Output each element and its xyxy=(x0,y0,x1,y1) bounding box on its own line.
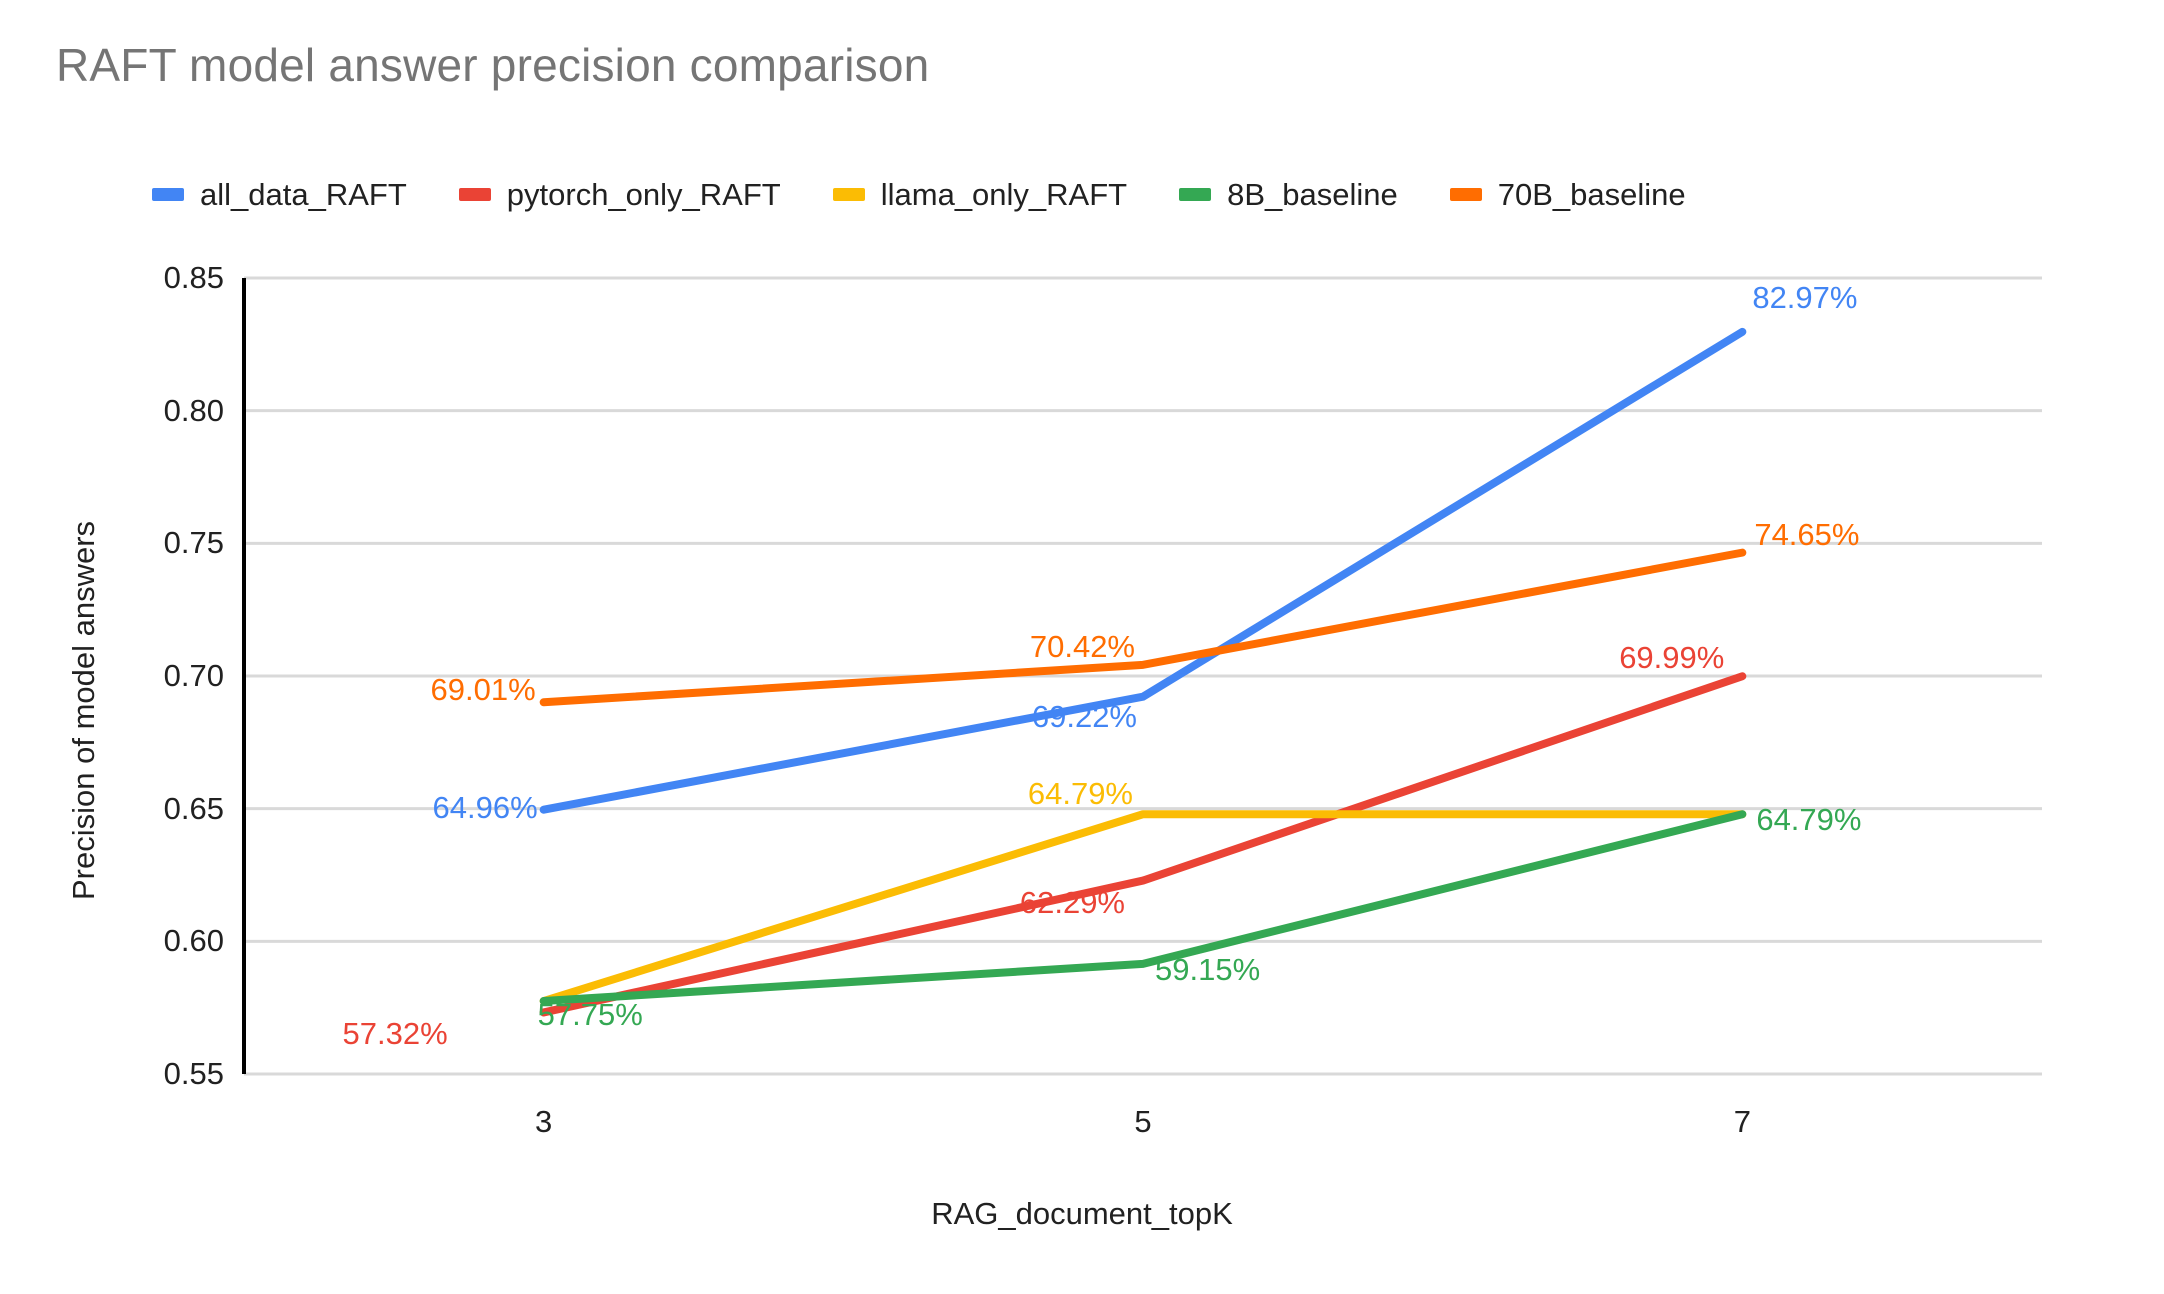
series-lines xyxy=(544,332,1743,1013)
y-tick-label: 0.60 xyxy=(74,923,224,959)
x-tick-label: 7 xyxy=(1682,1104,1802,1140)
x-tick-label: 5 xyxy=(1083,1104,1203,1140)
gridlines xyxy=(244,278,2042,1074)
x-axis-title: RAG_document_topK xyxy=(0,1196,2164,1232)
y-axis-title: Precision of model answers xyxy=(66,521,102,900)
series-line-70B_baseline xyxy=(544,553,1743,703)
y-tick-label: 0.85 xyxy=(74,260,224,296)
y-tick-label: 0.55 xyxy=(74,1056,224,1092)
y-tick-label: 0.80 xyxy=(74,393,224,429)
chart-container: RAFT model answer precision comparison a… xyxy=(0,0,2164,1294)
x-tick-label: 3 xyxy=(484,1104,604,1140)
plot-area xyxy=(0,0,2164,1294)
